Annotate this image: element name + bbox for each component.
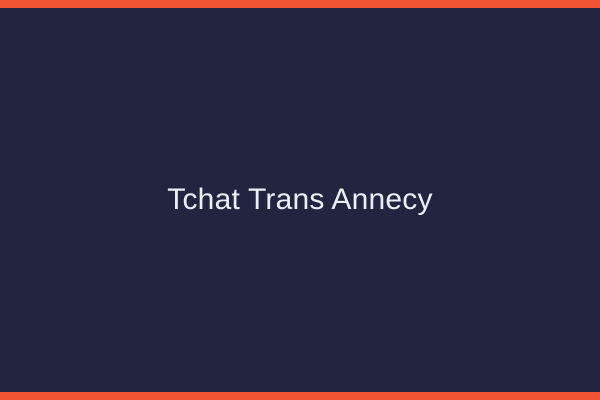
page-title: Tchat Trans Annecy xyxy=(167,182,432,218)
bottom-accent-bar xyxy=(0,392,600,400)
top-accent-bar xyxy=(0,0,600,8)
placeholder-card: Tchat Trans Annecy xyxy=(0,0,600,400)
placeholder-body: Tchat Trans Annecy xyxy=(0,8,600,392)
